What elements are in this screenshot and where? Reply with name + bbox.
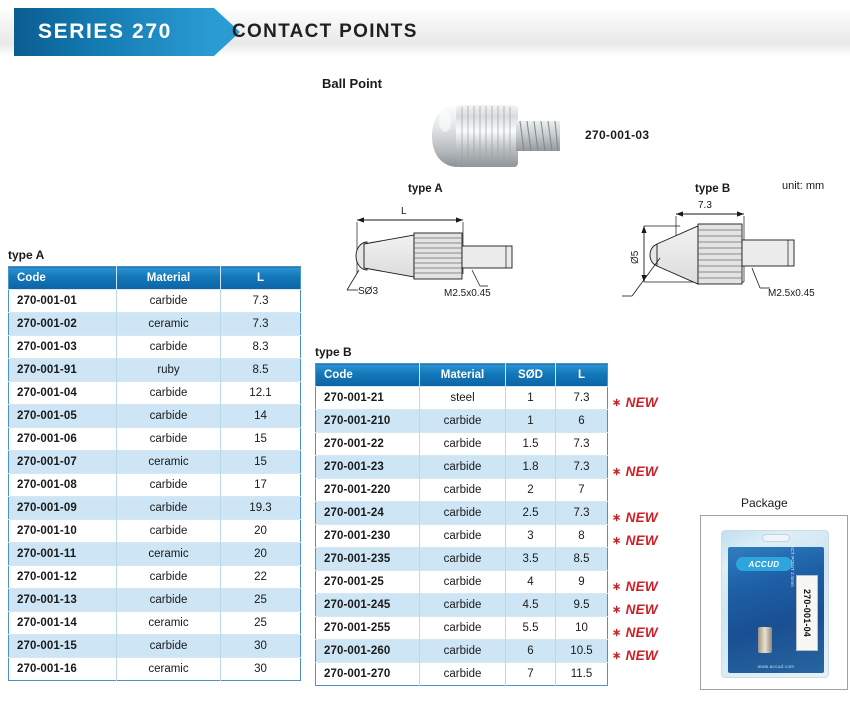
diagram-b-title: type B — [695, 183, 730, 195]
cell-code: 270-001-230 — [316, 525, 420, 548]
new-badge-slot: ∗ NEW — [612, 644, 702, 667]
page-header-banner: SERIES 270 CONTACT POINTS — [0, 8, 850, 56]
cell-material: carbide — [117, 520, 221, 543]
table-row: 270-001-22carbide1.57.3 — [316, 433, 608, 456]
cell-code: 270-001-255 — [316, 617, 420, 640]
cell-material: carbide — [117, 382, 221, 405]
diagram-a-sphere-label: SØ3 — [358, 286, 378, 297]
package-image-box: ACCUD CONTACT POINT 2.5mm 270-001-04 www… — [700, 515, 848, 690]
cell-l: 17 — [221, 474, 301, 497]
package-label-sub: CONTACT POINT 2.5mm — [790, 547, 795, 587]
cell-l: 15 — [221, 428, 301, 451]
package-footer-text: www.accud.com — [728, 664, 824, 669]
table-row: 270-001-230carbide38 — [316, 525, 608, 548]
table-a-section: type A Code Material L 270-001-01carbide… — [8, 248, 301, 681]
cell-material: ceramic — [117, 451, 221, 474]
table-b-header-row: Code Material SØD L — [316, 364, 608, 387]
table-row: 270-001-220carbide27 — [316, 479, 608, 502]
star-icon: ∗ — [612, 397, 622, 409]
cell-material: carbide — [420, 594, 506, 617]
new-badge: ∗ NEW — [612, 648, 658, 663]
cell-l: 7.3 — [556, 433, 608, 456]
cell-code: 270-001-23 — [316, 456, 420, 479]
table-b-caption: type B — [315, 345, 608, 359]
cell-material: ceramic — [117, 658, 221, 681]
cell-sod: 3 — [506, 525, 556, 548]
diagram-a-title: type A — [408, 183, 443, 195]
cell-material: carbide — [420, 663, 506, 686]
table-row: 270-001-24carbide2.57.3 — [316, 502, 608, 525]
cell-sod: 4 — [506, 571, 556, 594]
cell-sod: 6 — [506, 640, 556, 663]
product-name: Ball Point — [322, 76, 382, 91]
diagram-b-length-value: 7.3 — [698, 200, 712, 211]
package-label: 270-001-04 — [796, 575, 818, 651]
table-b: Code Material SØD L 270-001-21steel17.32… — [315, 363, 608, 686]
cell-code: 270-001-270 — [316, 663, 420, 686]
package-contact-point — [758, 627, 772, 653]
page-title: CONTACT POINTS — [232, 8, 418, 56]
cell-material: carbide — [420, 410, 506, 433]
table-row: 270-001-21steel17.3 — [316, 387, 608, 410]
cell-material: carbide — [117, 428, 221, 451]
cell-code: 270-001-220 — [316, 479, 420, 502]
package-title: Package — [741, 496, 788, 510]
cell-code: 270-001-09 — [9, 497, 117, 520]
new-badge: ∗ NEW — [612, 464, 658, 479]
table-row: 270-001-245carbide4.59.5 — [316, 594, 608, 617]
cell-material: ceramic — [117, 543, 221, 566]
new-badge: ∗ NEW — [612, 510, 658, 525]
series-tag: SERIES 270 — [14, 8, 214, 56]
cell-material: carbide — [420, 617, 506, 640]
cell-l: 14 — [221, 405, 301, 428]
cell-l: 7.3 — [556, 387, 608, 410]
cell-l: 7.3 — [556, 502, 608, 525]
table-row: 270-001-270carbide711.5 — [316, 663, 608, 686]
cell-code: 270-001-10 — [9, 520, 117, 543]
new-badge-column: ∗ NEW∗ NEW∗ NEW∗ NEW∗ NEW∗ NEW∗ NEW∗ NEW… — [612, 368, 702, 667]
cell-code: 270-001-25 — [316, 571, 420, 594]
new-badge-slot: ∗ NEW — [612, 437, 702, 460]
cell-material: carbide — [117, 635, 221, 658]
cell-code: 270-001-12 — [9, 566, 117, 589]
cell-l: 30 — [221, 635, 301, 658]
cell-material: carbide — [420, 571, 506, 594]
cell-l: 6 — [556, 410, 608, 433]
new-badge-slot: ∗ NEW — [612, 391, 702, 414]
cell-l: 25 — [221, 612, 301, 635]
star-icon: ∗ — [612, 604, 622, 616]
cell-sod: 2 — [506, 479, 556, 502]
cell-material: carbide — [420, 525, 506, 548]
cell-l: 22 — [221, 566, 301, 589]
cell-material: carbide — [117, 566, 221, 589]
cell-l: 7.3 — [221, 290, 301, 313]
cell-code: 270-001-06 — [9, 428, 117, 451]
cell-code: 270-001-235 — [316, 548, 420, 571]
table-a-header-row: Code Material L — [9, 267, 301, 290]
diagram-b-diameter-label: Ø5 — [630, 250, 641, 264]
table-row: 270-001-255carbide5.510 — [316, 617, 608, 640]
cell-l: 10 — [556, 617, 608, 640]
table-row: 270-001-07ceramic15 — [9, 451, 301, 474]
star-icon: ∗ — [612, 535, 622, 547]
cell-l: 15 — [221, 451, 301, 474]
cell-l: 20 — [221, 543, 301, 566]
cell-l: 30 — [221, 658, 301, 681]
table-a: Code Material L 270-001-01carbide7.3270-… — [8, 266, 301, 681]
col-sod: SØD — [506, 364, 556, 387]
new-badge-slot: ∗ NEW — [612, 483, 702, 506]
cell-sod: 1.5 — [506, 433, 556, 456]
cell-code: 270-001-11 — [9, 543, 117, 566]
cell-sod: 4.5 — [506, 594, 556, 617]
cell-sod: 3.5 — [506, 548, 556, 571]
table-row: 270-001-16ceramic30 — [9, 658, 301, 681]
cell-material: ceramic — [117, 313, 221, 336]
new-badge-slot: ∗ NEW — [612, 460, 702, 483]
cell-material: carbide — [117, 405, 221, 428]
cell-code: 270-001-24 — [316, 502, 420, 525]
cell-code: 270-001-245 — [316, 594, 420, 617]
table-row: 270-001-09carbide19.3 — [9, 497, 301, 520]
table-row: 270-001-06carbide15 — [9, 428, 301, 451]
new-badge-slot: ∗ NEW — [612, 552, 702, 575]
cell-code: 270-001-15 — [9, 635, 117, 658]
cell-l: 8 — [556, 525, 608, 548]
star-icon: ∗ — [612, 650, 622, 662]
cell-sod: 1 — [506, 387, 556, 410]
product-code: 270-001-03 — [585, 128, 649, 142]
cell-l: 25 — [221, 589, 301, 612]
cell-code: 270-001-08 — [9, 474, 117, 497]
table-row: 270-001-12carbide22 — [9, 566, 301, 589]
cell-code: 270-001-16 — [9, 658, 117, 681]
table-row: 270-001-01carbide7.3 — [9, 290, 301, 313]
table-a-caption: type A — [8, 248, 301, 262]
star-icon: ∗ — [612, 512, 622, 524]
package-label-code: 270-001-04 — [802, 589, 812, 637]
table-row: 270-001-11ceramic20 — [9, 543, 301, 566]
cell-code: 270-001-07 — [9, 451, 117, 474]
table-row: 270-001-15carbide30 — [9, 635, 301, 658]
cell-material: carbide — [420, 479, 506, 502]
table-row: 270-001-235carbide3.58.5 — [316, 548, 608, 571]
cell-l: 8.3 — [221, 336, 301, 359]
cell-code: 270-001-91 — [9, 359, 117, 382]
col-length: L — [221, 267, 301, 290]
table-row: 270-001-03carbide8.3 — [9, 336, 301, 359]
cell-l: 10.5 — [556, 640, 608, 663]
col-code: Code — [9, 267, 117, 290]
new-badge-slot: ∗ NEW — [612, 368, 702, 391]
cell-sod: 5.5 — [506, 617, 556, 640]
cell-code: 270-001-210 — [316, 410, 420, 433]
cell-l: 8.5 — [556, 548, 608, 571]
cell-sod: 1.8 — [506, 456, 556, 479]
brand-logo: ACCUD — [736, 557, 792, 571]
new-badge-slot: ∗ NEW — [612, 506, 702, 529]
cell-material: ruby — [117, 359, 221, 382]
new-badge: ∗ NEW — [612, 579, 658, 594]
table-row: 270-001-23carbide1.87.3 — [316, 456, 608, 479]
new-badge-slot: ∗ NEW — [612, 598, 702, 621]
cell-l: 9 — [556, 571, 608, 594]
new-badge-slot: ∗ NEW — [612, 575, 702, 598]
table-row: 270-001-91ruby8.5 — [9, 359, 301, 382]
cell-material: carbide — [420, 456, 506, 479]
cell-code: 270-001-04 — [9, 382, 117, 405]
cell-sod: 2.5 — [506, 502, 556, 525]
table-row: 270-001-05carbide14 — [9, 405, 301, 428]
diagram-type-b: type B 7.3 Ø5 SØD — [620, 178, 850, 313]
cell-code: 270-001-03 — [9, 336, 117, 359]
cell-l: 7 — [556, 479, 608, 502]
table-row: 270-001-260carbide610.5 — [316, 640, 608, 663]
cell-material: steel — [420, 387, 506, 410]
cell-l: 7.3 — [221, 313, 301, 336]
cell-code: 270-001-14 — [9, 612, 117, 635]
col-length: L — [556, 364, 608, 387]
table-row: 270-001-13carbide25 — [9, 589, 301, 612]
new-badge-slot: ∗ NEW — [612, 621, 702, 644]
diagram-a-thread-label: M2.5x0.45 — [444, 288, 491, 299]
cell-sod: 1 — [506, 410, 556, 433]
cell-material: carbide — [117, 474, 221, 497]
table-row: 270-001-14ceramic25 — [9, 612, 301, 635]
cell-l: 11.5 — [556, 663, 608, 686]
table-row: 270-001-10carbide20 — [9, 520, 301, 543]
cell-l: 8.5 — [221, 359, 301, 382]
diagram-type-a: type A L SØ3 M2.5x0.45 — [330, 178, 545, 313]
new-badge: ∗ NEW — [612, 625, 658, 640]
cell-l: 20 — [221, 520, 301, 543]
new-badge-slot: ∗ NEW — [612, 414, 702, 437]
col-code: Code — [316, 364, 420, 387]
star-icon: ∗ — [612, 627, 622, 639]
new-badge: ∗ NEW — [612, 533, 658, 548]
col-material: Material — [420, 364, 506, 387]
new-badge-slot: ∗ NEW — [612, 529, 702, 552]
diagram-b-thread-label: M2.5x0.45 — [768, 288, 815, 299]
star-icon: ∗ — [612, 581, 622, 593]
cell-code: 270-001-22 — [316, 433, 420, 456]
cell-code: 270-001-21 — [316, 387, 420, 410]
cell-code: 270-001-260 — [316, 640, 420, 663]
product-photo — [400, 95, 580, 177]
package-blister: ACCUD CONTACT POINT 2.5mm 270-001-04 www… — [721, 530, 829, 678]
cell-material: carbide — [117, 290, 221, 313]
cell-code: 270-001-05 — [9, 405, 117, 428]
cell-material: carbide — [420, 502, 506, 525]
table-b-section: type B Code Material SØD L 270-001-21ste… — [315, 345, 608, 686]
cell-material: carbide — [117, 336, 221, 359]
table-row: 270-001-25carbide49 — [316, 571, 608, 594]
cell-material: carbide — [420, 433, 506, 456]
cell-sod: 7 — [506, 663, 556, 686]
table-row: 270-001-02ceramic7.3 — [9, 313, 301, 336]
cell-material: carbide — [420, 548, 506, 571]
cell-material: carbide — [117, 497, 221, 520]
cell-material: ceramic — [117, 612, 221, 635]
series-label: SERIES 270 — [38, 20, 172, 44]
cell-code: 270-001-01 — [9, 290, 117, 313]
star-icon: ∗ — [612, 466, 622, 478]
new-badge: ∗ NEW — [612, 395, 658, 410]
col-material: Material — [117, 267, 221, 290]
cell-l: 9.5 — [556, 594, 608, 617]
diagram-a-length-label: L — [401, 206, 407, 217]
cell-l: 12.1 — [221, 382, 301, 405]
new-badge: ∗ NEW — [612, 602, 658, 617]
table-row: 270-001-210carbide16 — [316, 410, 608, 433]
table-row: 270-001-08carbide17 — [9, 474, 301, 497]
table-row: 270-001-04carbide12.1 — [9, 382, 301, 405]
cell-l: 7.3 — [556, 456, 608, 479]
cell-code: 270-001-02 — [9, 313, 117, 336]
package-hang-tab — [762, 534, 790, 542]
package-card: ACCUD CONTACT POINT 2.5mm 270-001-04 www… — [728, 547, 824, 673]
cell-material: carbide — [117, 589, 221, 612]
cell-code: 270-001-13 — [9, 589, 117, 612]
cell-l: 19.3 — [221, 497, 301, 520]
cell-material: carbide — [420, 640, 506, 663]
